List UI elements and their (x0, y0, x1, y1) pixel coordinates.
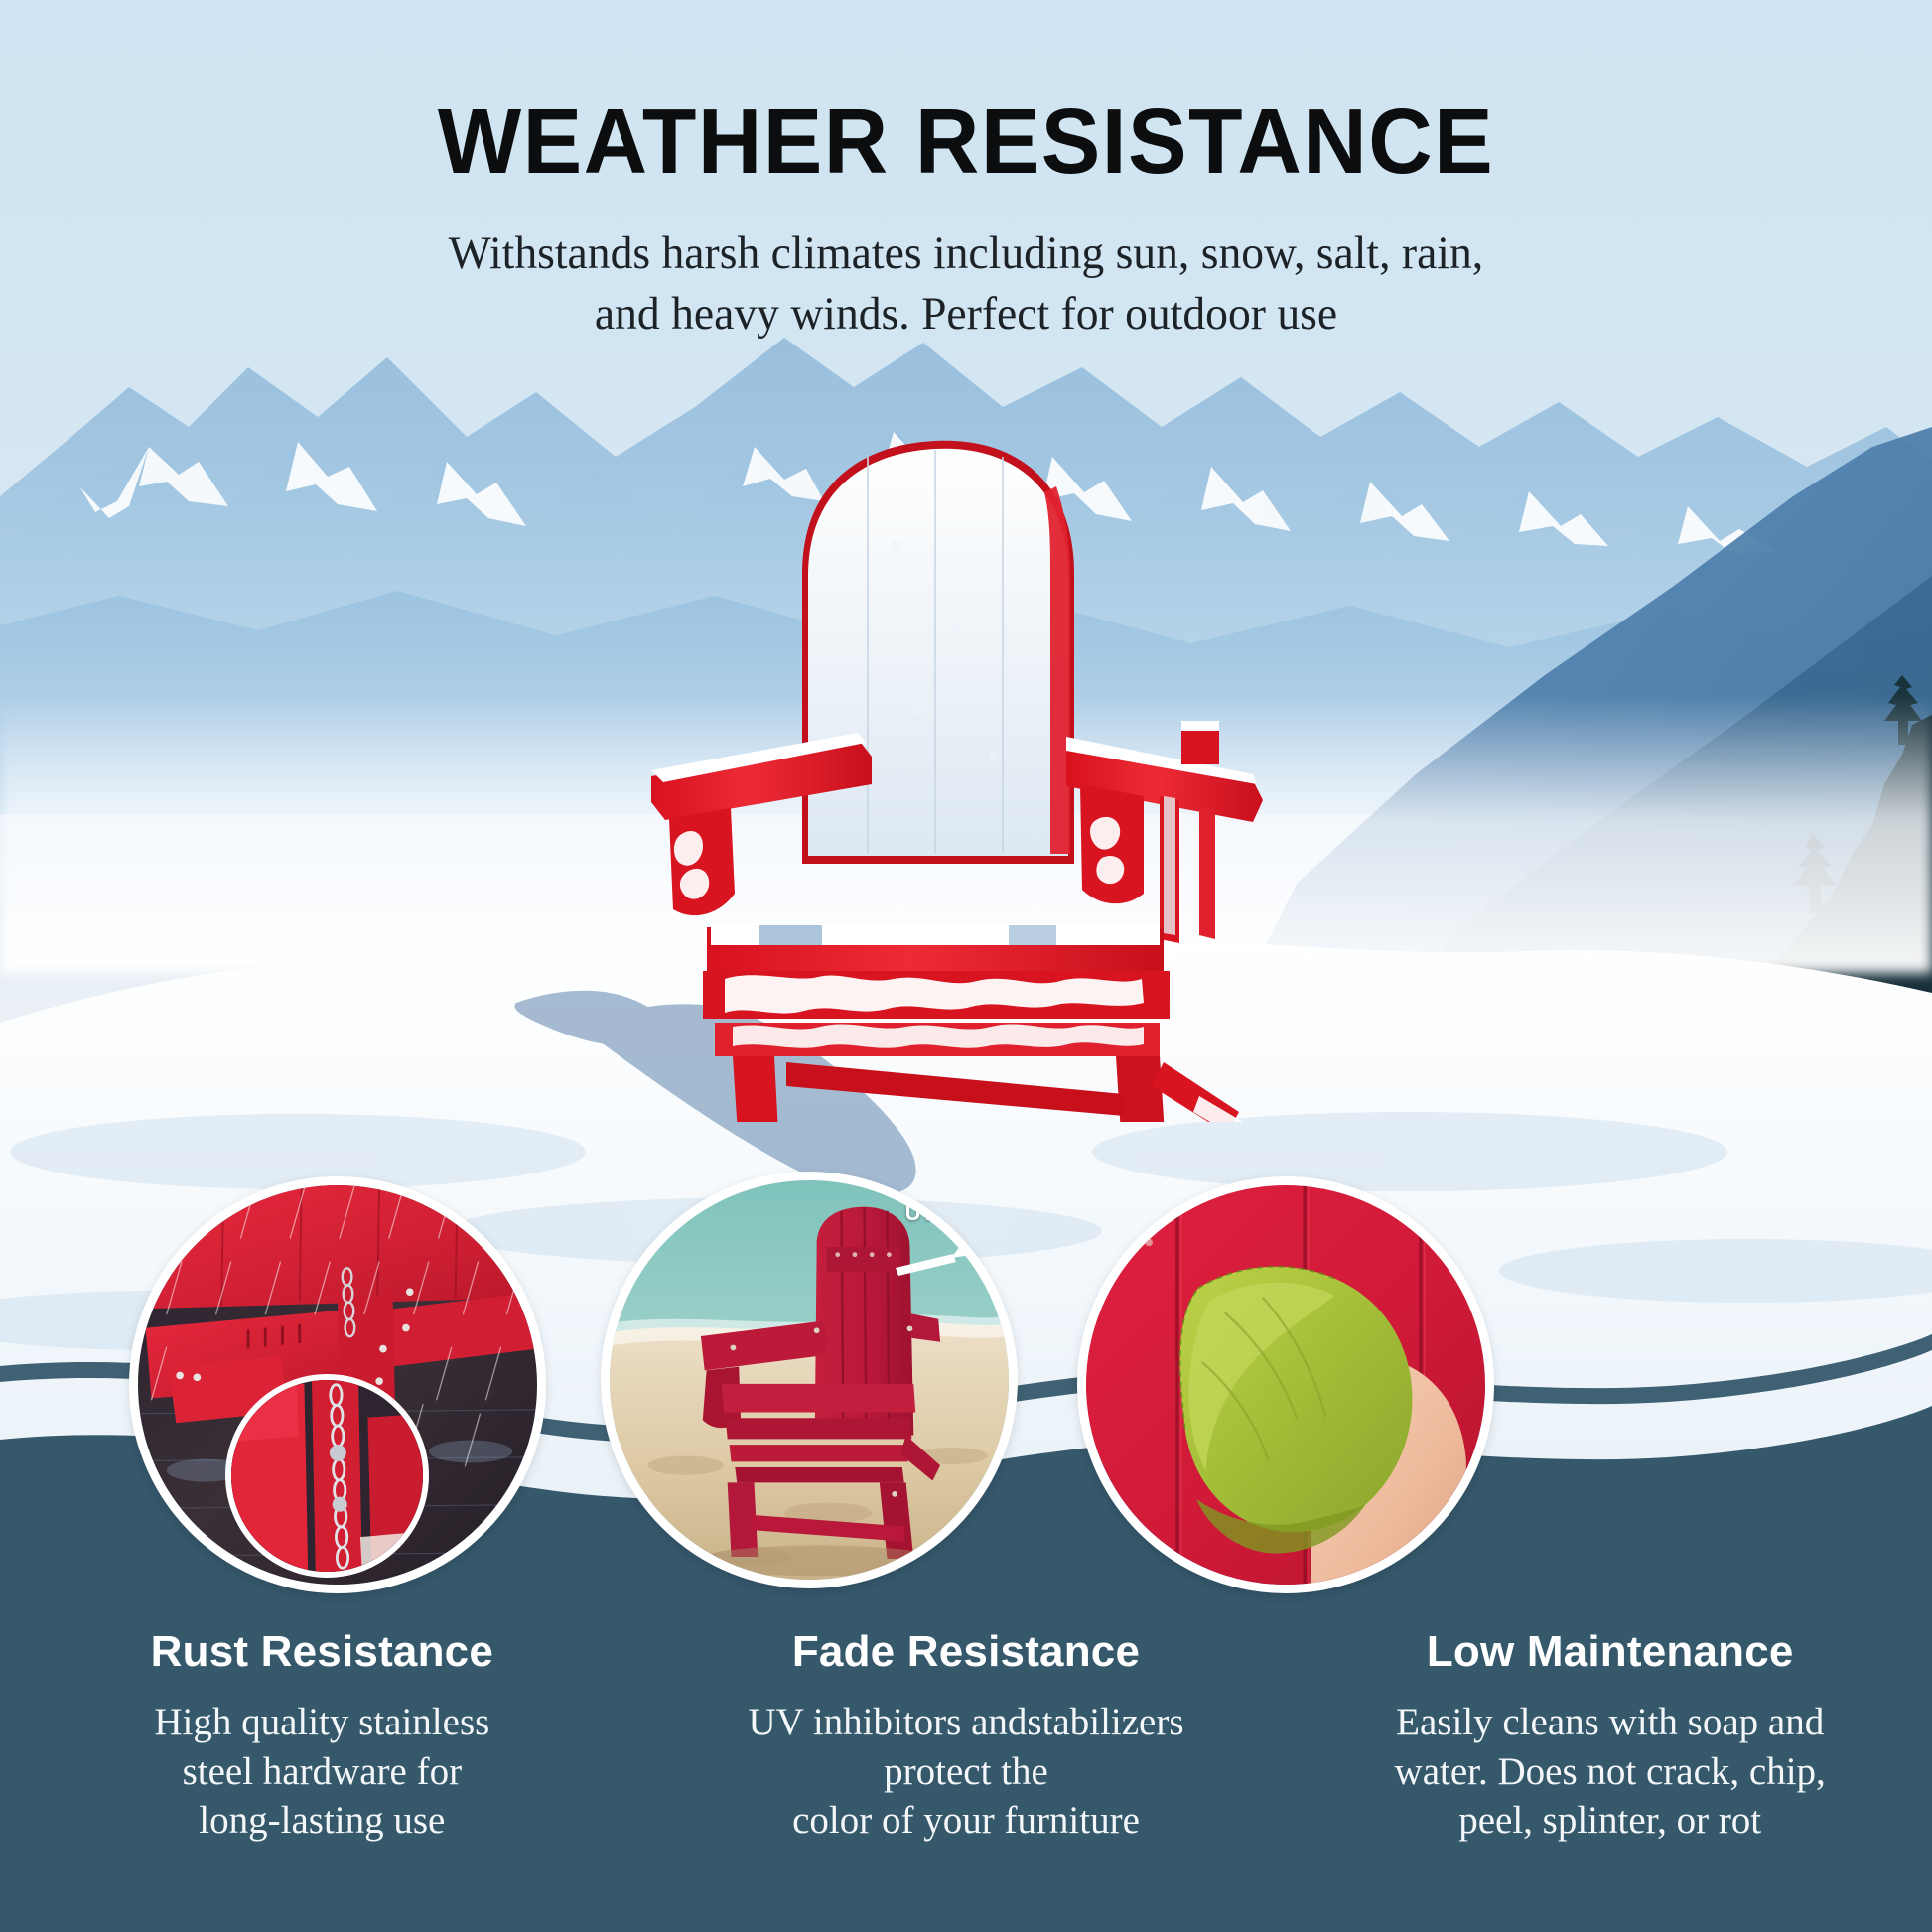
feature-desc-line-3: long-lasting use (54, 1796, 590, 1845)
feature-desc-line-1: Easily cleans with soap and (1312, 1698, 1908, 1746)
feature-desc-line-1: High quality stainless (54, 1698, 590, 1746)
feature-desc-line-3: color of your furniture (668, 1796, 1264, 1845)
feature-desc-line-2: water. Does not crack, chip, (1312, 1747, 1908, 1796)
feature-title-low-maintenance: Low Maintenance (1310, 1628, 1910, 1676)
uv-light-arrow-icon (894, 1228, 983, 1288)
page-subtitle: Withstands harsh climates including sun,… (29, 223, 1903, 345)
feature-desc-rust-resistance: High quality stainless steel hardware fo… (54, 1698, 590, 1844)
low-maintenance-photo (1086, 1185, 1485, 1585)
infographic-canvas: WEATHER RESISTANCE Withstands harsh clim… (0, 0, 1932, 1932)
uv-light-label: UV Light (905, 1200, 995, 1226)
hero-chair-snow-covered (608, 427, 1303, 1122)
feature-desc-line-3: peel, splinter, or rot (1312, 1796, 1908, 1845)
page-title: WEATHER RESISTANCE (39, 95, 1893, 188)
feature-rust-resistance: Rust Resistance High quality stainless s… (0, 1628, 644, 1932)
rust-resistance-inset-detail (225, 1374, 429, 1578)
subtitle-line-1: Withstands harsh climates including sun,… (29, 223, 1903, 284)
feature-images-row: UV Light (0, 1176, 1932, 1643)
header-block: WEATHER RESISTANCE Withstands harsh clim… (0, 0, 1932, 345)
subtitle-line-2: and heavy winds. Perfect for outdoor use (29, 284, 1903, 345)
feature-title-fade-resistance: Fade Resistance (666, 1628, 1267, 1676)
feature-low-maintenance: Low Maintenance Easily cleans with soap … (1288, 1628, 1932, 1932)
feature-desc-line-2: steel hardware for (54, 1747, 590, 1796)
feature-image-rust-resistance (129, 1176, 546, 1593)
feature-image-fade-resistance: UV Light (601, 1172, 1018, 1588)
features-text-row: Rust Resistance High quality stainless s… (0, 1628, 1932, 1932)
feature-desc-fade-resistance: UV inhibitors andstabilizers protect the… (668, 1698, 1264, 1844)
feature-image-low-maintenance (1077, 1176, 1494, 1593)
feature-fade-resistance: Fade Resistance UV inhibitors andstabili… (644, 1628, 1289, 1932)
feature-desc-line-2: protect the (668, 1747, 1264, 1796)
feature-desc-line-1: UV inhibitors andstabilizers (668, 1698, 1264, 1746)
feature-desc-low-maintenance: Easily cleans with soap and water. Does … (1312, 1698, 1908, 1844)
feature-title-rust-resistance: Rust Resistance (22, 1628, 622, 1676)
